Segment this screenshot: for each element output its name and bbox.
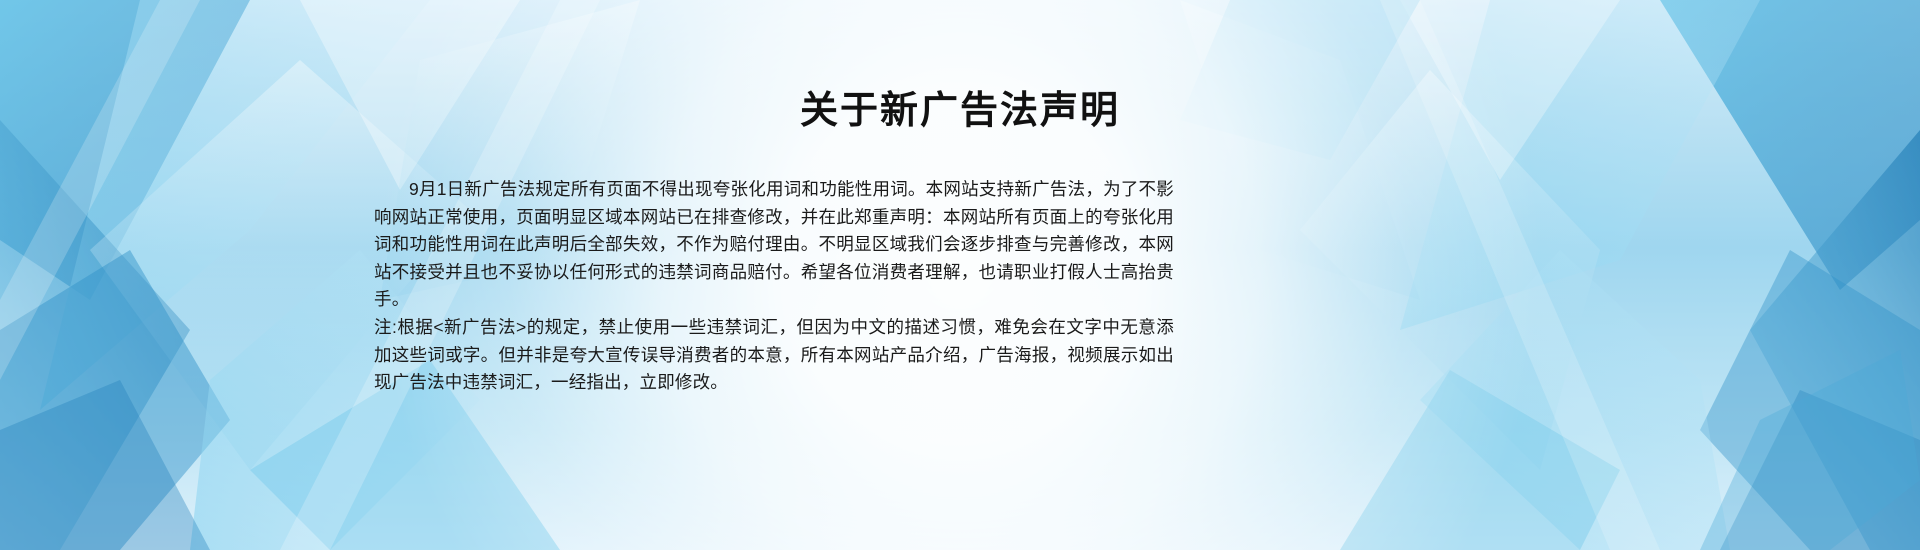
statement-paragraph-2: 注:根据<新广告法>的规定，禁止使用一些违禁词汇，但因为中文的描述习惯，难免会在… [374,314,1174,397]
statement-body: 9月1日新广告法规定所有页面不得出现夸张化用词和功能性用词。本网站支持新广告法，… [374,176,1174,397]
banner-statement: 关于新广告法声明 9月1日新广告法规定所有页面不得出现夸张化用词和功能性用词。本… [0,0,1920,550]
statement-paragraph-1: 9月1日新广告法规定所有页面不得出现夸张化用词和功能性用词。本网站支持新广告法，… [374,176,1174,314]
page-title: 关于新广告法声明 [0,88,1920,134]
statement-content: 关于新广告法声明 9月1日新广告法规定所有页面不得出现夸张化用词和功能性用词。本… [0,0,1920,550]
